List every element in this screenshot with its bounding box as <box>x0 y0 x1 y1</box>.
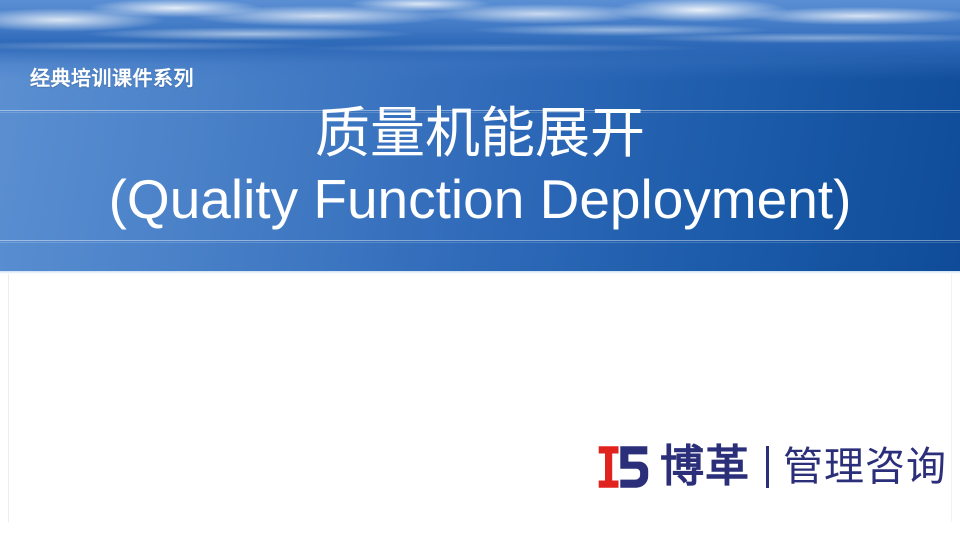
bg-monogram-icon <box>596 440 650 494</box>
divider-line-lower-shadow <box>0 242 960 243</box>
logo-wordmark: 博革 <box>660 444 750 490</box>
header-blue-band: 经典培训课件系列 质量机能展开 (Quality Function Deploy… <box>0 0 960 271</box>
page-title-english: (Quality Function Deployment) <box>0 168 960 230</box>
series-kicker: 经典培训课件系列 <box>30 62 194 91</box>
title-slide: 经典培训课件系列 质量机能展开 (Quality Function Deploy… <box>0 0 960 540</box>
page-title-chinese: 质量机能展开 <box>0 104 960 162</box>
right-margin-rule <box>951 274 952 522</box>
sky-clouds-photo <box>0 0 960 64</box>
logo-divider <box>766 446 769 488</box>
left-margin-rule <box>8 274 9 522</box>
divider-line-lower <box>0 240 960 241</box>
body-top-edge <box>0 271 960 274</box>
brand-logo: 博革 管理咨询 <box>596 436 944 498</box>
logo-tagline: 管理咨询 <box>783 445 947 489</box>
